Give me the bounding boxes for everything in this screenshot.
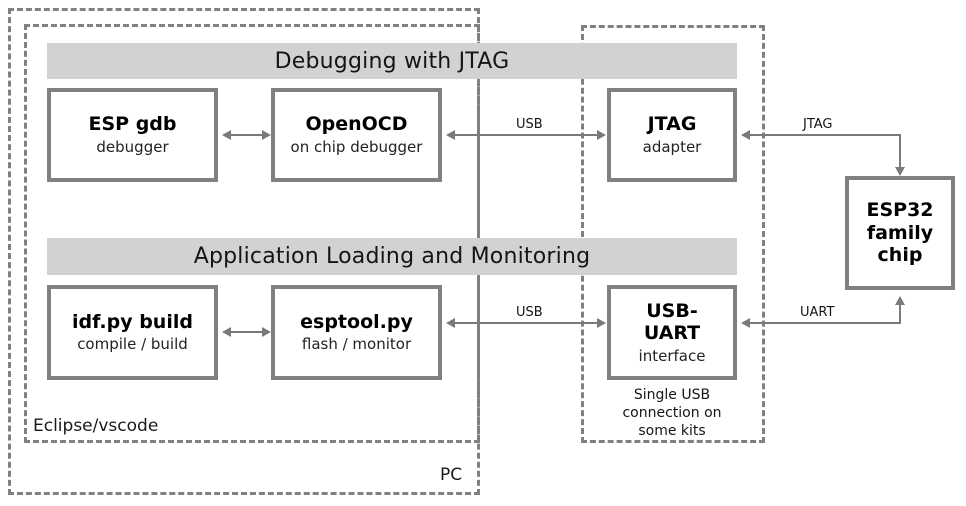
section-bar-app-loading: Application Loading and Monitoring: [47, 238, 737, 275]
caption-single-usb: Single USB connection on some kits: [607, 386, 737, 441]
node-esp32-chip[interactable]: ESP32 family chip: [845, 176, 955, 290]
node-jtag-adapter-title: JTAG: [648, 113, 697, 135]
node-idf-py-build[interactable]: idf.py build compile / build: [47, 285, 218, 380]
node-usb-uart-subtitle: interface: [639, 348, 706, 366]
container-ide-label: Eclipse/vscode: [33, 416, 158, 436]
node-usb-uart-title-line1: USB-: [646, 300, 697, 322]
arrow-head-esptool-usbuart-left: [446, 318, 455, 328]
node-esptool-py-subtitle: flash / monitor: [302, 336, 411, 354]
node-esptool-py[interactable]: esptool.py flash / monitor: [271, 285, 442, 380]
node-openocd-subtitle: on chip debugger: [291, 139, 423, 157]
connector-jtag-chip-vertical: [899, 134, 901, 168]
section-bar-debugging-label: Debugging with JTAG: [275, 49, 510, 74]
connector-idf-esptool: [231, 331, 263, 333]
arrow-head-openocd-jtag-right: [597, 130, 606, 140]
container-ide: [24, 24, 480, 443]
edge-label-usb-bottom: USB: [516, 305, 543, 320]
arrow-head-idf-esptool-right: [262, 327, 271, 337]
node-idf-py-build-subtitle: compile / build: [77, 336, 188, 354]
section-bar-app-loading-label: Application Loading and Monitoring: [194, 244, 591, 269]
node-openocd-title: OpenOCD: [305, 113, 407, 135]
arrow-head-usbuart-chip: [741, 318, 750, 328]
node-jtag-adapter[interactable]: JTAG adapter: [607, 88, 737, 182]
node-usb-uart-title-line2: UART: [644, 322, 700, 344]
arrow-head-jtag-into-chip: [895, 167, 905, 181]
node-openocd[interactable]: OpenOCD on chip debugger: [271, 88, 442, 182]
arrow-head-gdb-openocd-left: [222, 130, 231, 140]
node-esp32-chip-title-line3: chip: [878, 244, 923, 266]
arrow-head-idf-esptool-left: [222, 327, 231, 337]
node-esp-gdb-subtitle: debugger: [96, 139, 168, 157]
arrow-head-esptool-usbuart-right: [597, 318, 606, 328]
arrow-head-uart-into-chip: [895, 291, 905, 305]
node-esp32-chip-title-line2: family: [867, 222, 933, 244]
container-pc-label: PC: [440, 465, 462, 485]
node-usb-uart[interactable]: USB- UART interface: [607, 285, 737, 380]
node-esp32-chip-title-line1: ESP32: [866, 199, 933, 221]
connector-gdb-openocd: [231, 134, 263, 136]
node-esp-gdb[interactable]: ESP gdb debugger: [47, 88, 218, 182]
node-jtag-adapter-subtitle: adapter: [643, 139, 702, 157]
connector-esptool-usbuart: [455, 322, 599, 324]
connector-jtag-chip-horizontal: [750, 134, 901, 136]
node-esp-gdb-title: ESP gdb: [88, 113, 176, 135]
edge-label-uart: UART: [800, 305, 834, 320]
connector-openocd-jtag: [455, 134, 599, 136]
diagram-canvas: PC Eclipse/vscode Debugging with JTAG Ap…: [0, 0, 966, 506]
node-idf-py-build-title: idf.py build: [72, 311, 193, 333]
arrow-head-gdb-openocd-right: [262, 130, 271, 140]
node-esptool-py-title: esptool.py: [300, 311, 413, 333]
arrow-head-jtag-chip: [741, 130, 750, 140]
edge-label-usb-top: USB: [516, 117, 543, 132]
connector-uart-horizontal: [750, 322, 901, 324]
edge-label-jtag: JTAG: [803, 117, 833, 132]
arrow-head-openocd-jtag-left: [446, 130, 455, 140]
section-bar-debugging: Debugging with JTAG: [47, 43, 737, 79]
